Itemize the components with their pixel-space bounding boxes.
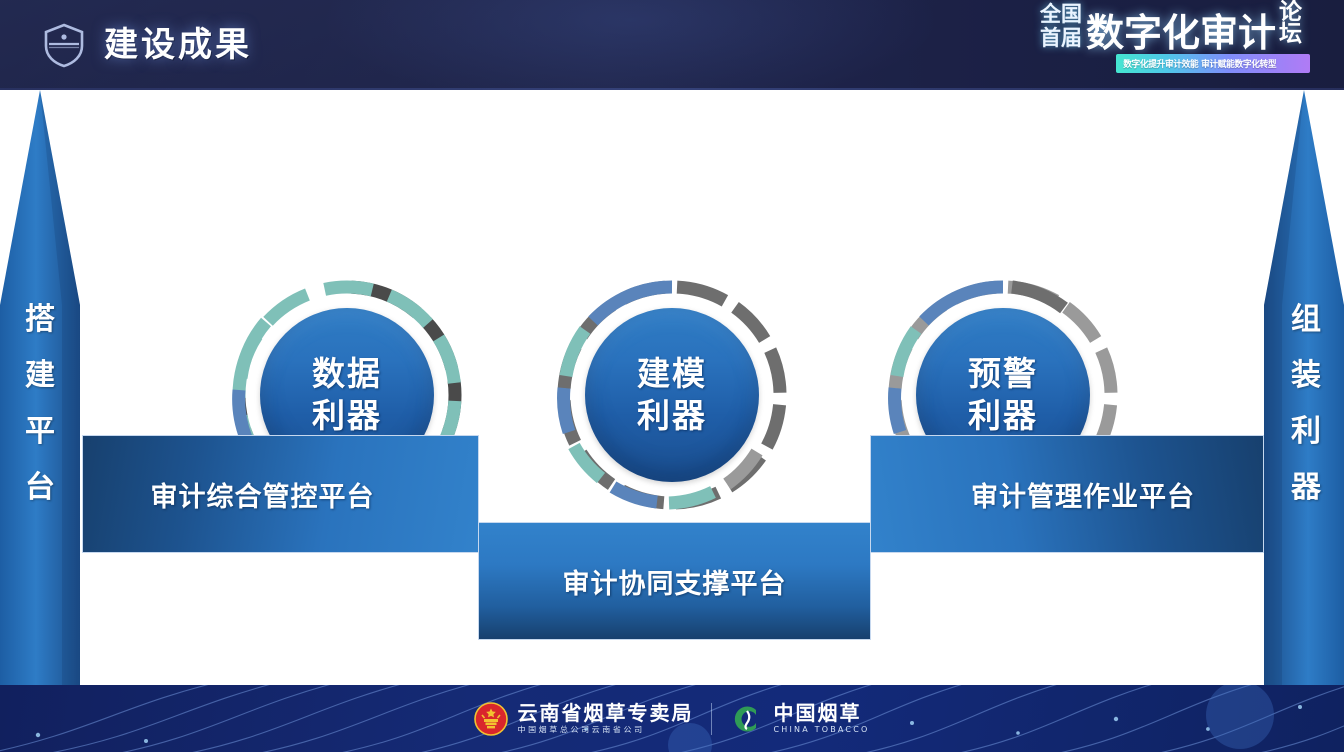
forum-logo-line1: 全国	[1040, 4, 1082, 25]
circle-0-line1: 数据	[312, 355, 382, 393]
forum-logo-line2: 首届	[1040, 28, 1082, 49]
circle-model-tool-core: 建模 利器	[585, 308, 759, 482]
platform-bar-middle: 审计协同支撑平台	[478, 522, 871, 640]
slide-body: 搭 建 平 台 组 装	[0, 90, 1344, 685]
forum-logo-subtitle-bar: 数字化提升审计效能 审计赋能数字化转型	[1116, 54, 1310, 73]
slide-header: 建设成果 全国 首届 数字化审计 论 坛 数字化提升审计效能 审计赋能数字化转型	[0, 0, 1344, 90]
header-glow	[320, 0, 940, 90]
national-emblem-icon	[474, 702, 508, 736]
footer-logo-row: 云南省烟草专卖局 中国烟草总公司云南省公司 中国烟草 CHINA TOBACCO	[0, 685, 1344, 752]
platform-bar-left-label: 审计综合管控平台	[151, 475, 375, 514]
slide-root: 建设成果 全国 首届 数字化审计 论 坛 数字化提升审计效能 审计赋能数字化转型	[0, 0, 1344, 752]
platform-bar-right-label: 审计管理作业平台	[971, 475, 1195, 514]
forum-logo-main: 数字化审计	[1086, 2, 1276, 57]
platform-bar-left: 审计综合管控平台	[82, 435, 479, 553]
footer-org-name: 云南省烟草专卖局	[517, 703, 693, 723]
footer-brand-name: 中国烟草	[773, 703, 869, 723]
platform-bar-right: 审计管理作业平台	[870, 435, 1264, 553]
footer-org-subname: 中国烟草总公司云南省公司	[517, 726, 693, 734]
left-arrow-char-3: 台	[25, 473, 55, 503]
shield-icon	[42, 22, 86, 68]
circle-1-line1: 建模	[637, 355, 707, 393]
yunnan-tobacco-logo: 云南省烟草专卖局 中国烟草总公司云南省公司	[474, 702, 693, 736]
platform-bar-middle-label: 审计协同支撑平台	[563, 562, 787, 601]
footer-divider	[711, 703, 712, 735]
page-title: 建设成果	[104, 22, 252, 68]
circle-0-line2: 利器	[312, 397, 382, 435]
forum-logo: 全国 首届 数字化审计 论 坛 数字化提升审计效能 审计赋能数字化转型	[1040, 4, 1330, 84]
forum-logo-tail-bottom: 坛	[1279, 24, 1302, 46]
circle-group: 数据 利器	[0, 90, 1344, 430]
right-arrow-char-3: 器	[1291, 473, 1321, 503]
china-tobacco-icon	[730, 702, 764, 736]
slide-footer: 云南省烟草专卖局 中国烟草总公司云南省公司 中国烟草 CHINA TOBACCO	[0, 685, 1344, 752]
forum-logo-subtitle: 数字化提升审计效能 审计赋能数字化转型	[1123, 57, 1276, 70]
footer-brand-subname: CHINA TOBACCO	[773, 726, 869, 734]
china-tobacco-logo: 中国烟草 CHINA TOBACCO	[730, 702, 869, 736]
circle-1-line2: 利器	[637, 397, 707, 435]
circle-2-line1: 预警	[968, 355, 1038, 393]
circle-model-tool: 建模 利器	[557, 280, 787, 510]
circle-2-line2: 利器	[968, 397, 1038, 435]
